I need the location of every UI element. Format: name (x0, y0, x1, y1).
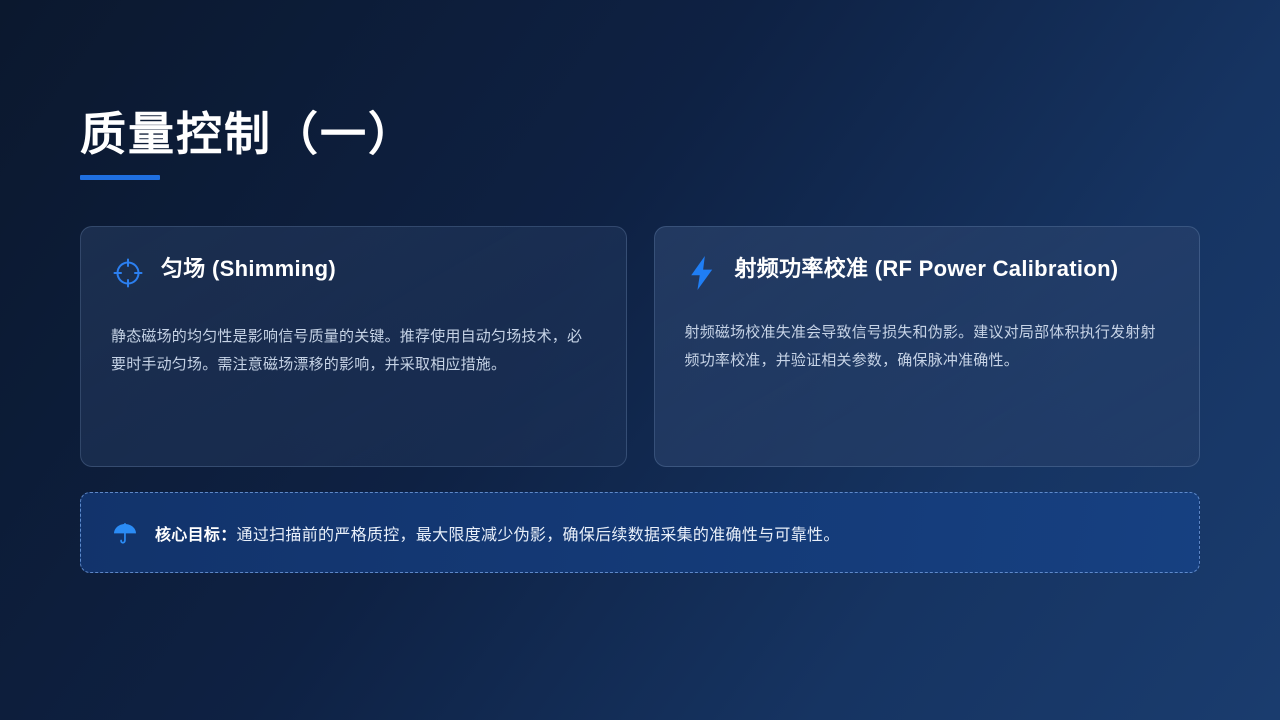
card-title: 射频功率校准 (RF Power Calibration) (735, 253, 1119, 284)
card-header: 射频功率校准 (RF Power Calibration) (685, 253, 1170, 297)
lightning-bolt-icon (685, 256, 719, 290)
banner-detail: 通过扫描前的严格质控，最大限度减少伪影，确保后续数据采集的准确性与可靠性。 (237, 527, 840, 544)
card-body-text: 射频磁场校准失准会导致信号损失和伪影。建议对局部体积执行发射射频功率校准，并验证… (685, 319, 1170, 375)
card-shimming[interactable]: 匀场 (Shimming) 静态磁场的均匀性是影响信号质量的关键。推荐使用自动匀… (80, 226, 627, 467)
crosshair-icon (111, 256, 145, 290)
cards-row: 匀场 (Shimming) 静态磁场的均匀性是影响信号质量的关键。推荐使用自动匀… (80, 226, 1200, 467)
title-accent-underline (80, 175, 160, 180)
slide-root: 质量控制（一） 匀场 (Shimming) 静态磁场的均匀性是影响信号质量的关键… (0, 0, 1280, 720)
card-rf-power-calibration[interactable]: 射频功率校准 (RF Power Calibration) 射频磁场校准失准会导… (654, 226, 1201, 467)
core-objective-banner: 核心目标：通过扫描前的严格质控，最大限度减少伪影，确保后续数据采集的准确性与可靠… (80, 492, 1200, 573)
page-title: 质量控制（一） (80, 108, 416, 161)
umbrella-icon (111, 519, 139, 547)
card-body-text: 静态磁场的均匀性是影响信号质量的关键。推荐使用自动匀场技术，必要时手动匀场。需注… (111, 323, 596, 379)
banner-text: 核心目标：通过扫描前的严格质控，最大限度减少伪影，确保后续数据采集的准确性与可靠… (155, 521, 840, 545)
card-title: 匀场 (Shimming) (161, 253, 336, 284)
banner-label: 核心目标： (155, 527, 237, 544)
title-block: 质量控制（一） (80, 108, 416, 180)
card-header: 匀场 (Shimming) (111, 253, 596, 297)
